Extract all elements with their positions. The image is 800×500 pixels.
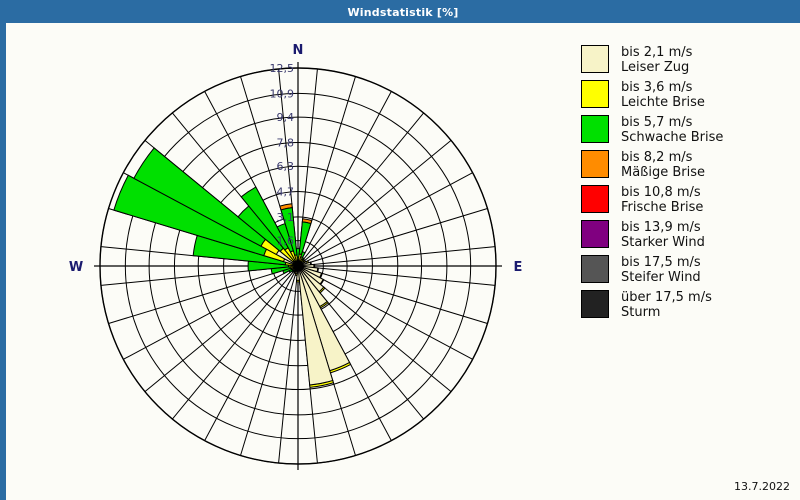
legend-item[interactable]: bis 8,2 m/sMäßige Brise — [581, 150, 796, 180]
legend: bis 2,1 m/sLeiser Zugbis 3,6 m/sLeichte … — [581, 45, 796, 325]
legend-swatch — [581, 150, 609, 178]
legend-range: bis 13,9 m/s — [621, 220, 705, 235]
grid-spoke — [298, 113, 424, 266]
windstatistik-window: Windstatistik [%] 1,63,14,76,37,89,410,9… — [0, 0, 800, 500]
legend-class-name: Steifer Wind — [621, 270, 701, 285]
radial-tick-label: 10,9 — [270, 87, 295, 100]
radial-tick-label: 3,1 — [277, 211, 295, 224]
radial-tick-label: 12,5 — [270, 62, 295, 75]
radial-tick-label: 6,3 — [277, 160, 295, 173]
legend-text: bis 5,7 m/sSchwache Brise — [621, 115, 723, 145]
grid-spoke — [109, 266, 298, 323]
legend-swatch — [581, 290, 609, 318]
legend-range: bis 2,1 m/s — [621, 45, 692, 60]
legend-class-name: Mäßige Brise — [621, 165, 705, 180]
legend-swatch — [581, 185, 609, 213]
legend-swatch — [581, 220, 609, 248]
legend-item[interactable]: bis 5,7 m/sSchwache Brise — [581, 115, 796, 145]
grid-spoke — [298, 266, 487, 323]
legend-item[interactable]: bis 3,6 m/sLeichte Brise — [581, 80, 796, 110]
compass-label-west: W — [69, 260, 83, 275]
compass-label-east: E — [514, 260, 523, 275]
legend-item[interactable]: bis 10,8 m/sFrische Brise — [581, 185, 796, 215]
legend-swatch — [581, 255, 609, 283]
radial-tick-label: 7,8 — [277, 136, 295, 149]
window-titlebar: Windstatistik [%] — [3, 3, 800, 23]
legend-item[interactable]: bis 2,1 m/sLeiser Zug — [581, 45, 796, 75]
grid-spoke — [298, 209, 487, 266]
legend-item[interactable]: über 17,5 m/sSturm — [581, 290, 796, 320]
legend-swatch — [581, 80, 609, 108]
legend-range: bis 17,5 m/s — [621, 255, 701, 270]
legend-swatch — [581, 115, 609, 143]
footer-bar: 13.7.2022 — [6, 477, 800, 500]
window-title: Windstatistik [%] — [347, 6, 458, 19]
legend-range: bis 8,2 m/s — [621, 150, 705, 165]
legend-swatch — [581, 45, 609, 73]
legend-class-name: Leiser Zug — [621, 60, 692, 75]
grid-spoke — [145, 266, 298, 392]
legend-range: über 17,5 m/s — [621, 290, 712, 305]
legend-range: bis 10,8 m/s — [621, 185, 703, 200]
legend-range: bis 5,7 m/s — [621, 115, 723, 130]
grid-spoke — [172, 266, 298, 419]
legend-text: bis 2,1 m/sLeiser Zug — [621, 45, 692, 75]
legend-class-name: Sturm — [621, 305, 712, 320]
grid-spoke — [241, 266, 298, 455]
radial-tick-label: 1,6 — [277, 235, 295, 248]
legend-text: bis 13,9 m/sStarker Wind — [621, 220, 705, 250]
radial-tick-label: 4,7 — [277, 186, 295, 199]
legend-text: über 17,5 m/sSturm — [621, 290, 712, 320]
legend-item[interactable]: bis 17,5 m/sSteifer Wind — [581, 255, 796, 285]
legend-item[interactable]: bis 13,9 m/sStarker Wind — [581, 220, 796, 250]
legend-text: bis 17,5 m/sSteifer Wind — [621, 255, 701, 285]
legend-class-name: Frische Brise — [621, 200, 703, 215]
radial-tick-label: 9,4 — [277, 111, 295, 124]
legend-text: bis 8,2 m/sMäßige Brise — [621, 150, 705, 180]
petal-N-NNE-Schwache-Brise — [299, 222, 311, 255]
legend-text: bis 10,8 m/sFrische Brise — [621, 185, 703, 215]
date-stamp: 13.7.2022 — [734, 480, 790, 493]
chart-canvas: 1,63,14,76,37,89,410,912,5NESW bis 2,1 m… — [6, 23, 800, 477]
legend-class-name: Leichte Brise — [621, 95, 705, 110]
legend-text: bis 3,6 m/sLeichte Brise — [621, 80, 705, 110]
legend-class-name: Starker Wind — [621, 235, 705, 250]
legend-class-name: Schwache Brise — [621, 130, 723, 145]
grid-spoke — [298, 140, 451, 266]
legend-range: bis 3,6 m/s — [621, 80, 705, 95]
compass-label-north: N — [293, 43, 304, 58]
